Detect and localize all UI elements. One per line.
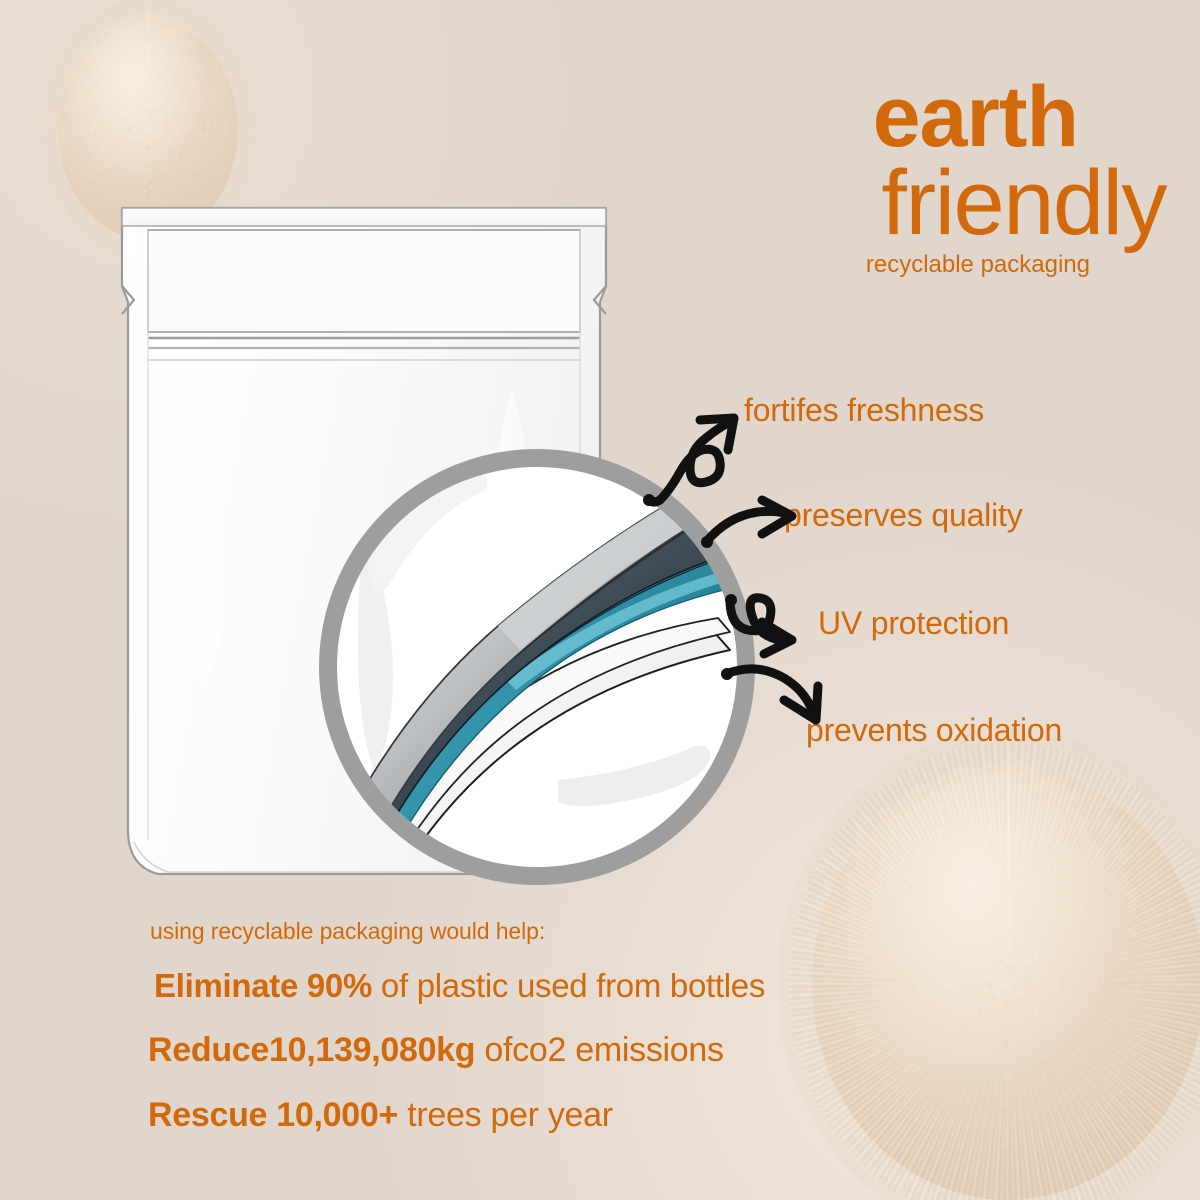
pouch-top-flap [122,208,606,226]
stat-rest: of plastic used from bottles [372,967,765,1004]
earth-friendly-poster: earth friendly recyclable packaging fort… [0,0,1200,1200]
headline-line-friendly: friendly [700,157,1170,249]
stat-row: Reduce10,139,080kg ofco2 emissions [148,1031,888,1070]
page-title: earth friendly recyclable packaging [700,78,1170,279]
stat-highlight: Rescue 10,000+ [148,1096,398,1134]
headline-subtitle: recyclable packaging [700,251,1170,279]
magnifier-cutaway [306,436,768,898]
pouch-top-panel [148,230,580,332]
stat-row: Rescue 10,000+ trees per year [148,1096,888,1135]
feature-label-uv-protection: UV protection [818,605,1009,642]
feature-label-prevents-oxidation: prevents oxidation [806,712,1062,749]
stats-block: using recyclable packaging would help: E… [148,918,888,1135]
stats-intro-text: using recyclable packaging would help: [150,918,888,945]
feature-label-fortifes-freshness: fortifes freshness [744,392,984,429]
headline-line-earth: earth [700,78,1170,157]
stat-rest: trees per year [398,1096,613,1134]
stat-highlight: Reduce10,139,080kg [148,1031,475,1069]
stat-row: Eliminate 90% of plastic used from bottl… [154,967,888,1005]
stat-rest: ofco2 emissions [475,1031,723,1069]
stat-highlight: Eliminate 90% [154,967,372,1004]
feature-label-preserves-quality: preserves quality [784,497,1023,534]
